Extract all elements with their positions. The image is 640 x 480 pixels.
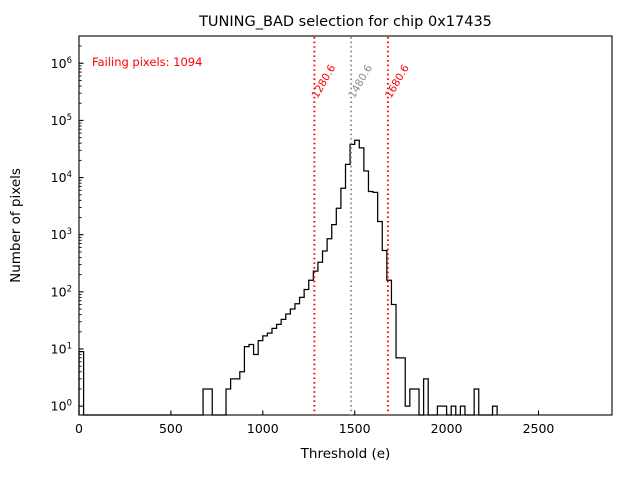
matplotlib-figure: TUNING_BAD selection for chip 0x17435 05…: [0, 0, 640, 480]
x-tick-label: 1500: [339, 421, 371, 436]
figure-background: [0, 0, 640, 480]
chart-title: TUNING_BAD selection for chip 0x17435: [198, 14, 492, 30]
x-axis-label: Threshold (e): [300, 446, 391, 462]
x-tick-label: 2500: [523, 421, 555, 436]
x-tick-label: 2000: [431, 421, 463, 436]
x-tick-label: 500: [159, 421, 183, 436]
failing-pixels-annotation: Failing pixels: 1094: [92, 55, 202, 69]
x-tick-label: 0: [75, 421, 83, 436]
y-axis-label: Number of pixels: [8, 168, 24, 283]
x-tick-label: 1000: [247, 421, 279, 436]
histogram-chart: TUNING_BAD selection for chip 0x17435 05…: [0, 0, 640, 480]
